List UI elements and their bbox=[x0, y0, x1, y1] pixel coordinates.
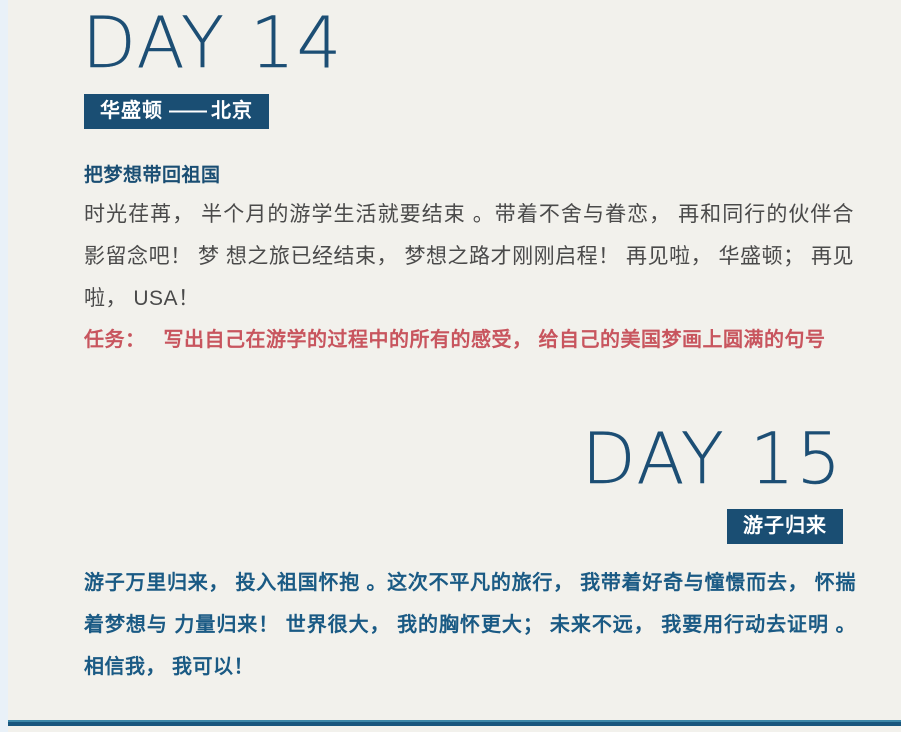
day-14-subheading: 把梦想带回祖国 bbox=[84, 160, 221, 187]
day-14-route-badge: 华盛顿——北京 bbox=[84, 94, 269, 129]
day-14-heading-block: DAY 14 bbox=[82, 8, 343, 78]
route-origin-label: 华盛顿 bbox=[100, 100, 163, 122]
route-destination-label: 北京 bbox=[211, 100, 253, 122]
route-dash-icon: —— bbox=[169, 100, 205, 122]
day-14-task-paragraph: 任务：写出自己在游学的过程中的所有的感受， 给自己的美国梦画上圆满的句号 bbox=[84, 320, 854, 360]
badge-returning-traveler: 游子归来 bbox=[727, 509, 843, 544]
day-15-body-paragraph: 游子万里归来， 投入祖国怀抱 。这次不平凡的旅行， 我带着好奇与憧憬而去， 怀揣… bbox=[84, 562, 856, 688]
day-15-heading-block: DAY 15 bbox=[582, 424, 843, 494]
task-text: 写出自己在游学的过程中的所有的感受， 给自己的美国梦画上圆满的句号 bbox=[164, 329, 826, 351]
day-15-title-badge: 游子归来 bbox=[727, 509, 843, 544]
day-14-title: DAY 14 bbox=[82, 8, 343, 78]
footer-rule bbox=[8, 722, 901, 726]
route-badge-washington-beijing: 华盛顿——北京 bbox=[84, 94, 269, 129]
day-14-body-paragraph: 时光荏苒， 半个月的游学生活就要结束 。带着不舍与眷恋， 再和同行的伙伴合影留念… bbox=[84, 194, 854, 320]
task-label: 任务： bbox=[84, 329, 146, 351]
day-15-title: DAY 15 bbox=[582, 424, 843, 494]
left-edge-strip bbox=[0, 0, 8, 732]
travel-journal-page: DAY 14 华盛顿——北京 把梦想带回祖国 时光荏苒， 半个月的游学生活就要结… bbox=[0, 0, 901, 732]
